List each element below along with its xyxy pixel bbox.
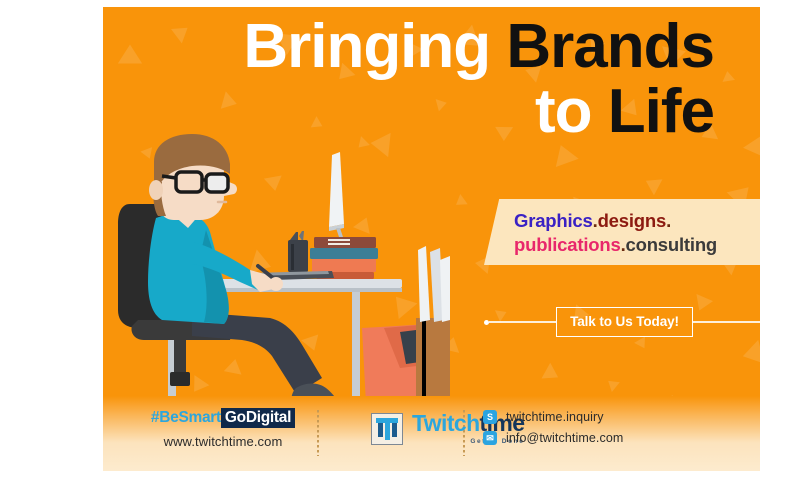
pen-cup bbox=[288, 231, 308, 272]
talk-to-us-today-button[interactable]: Talk to Us Today! bbox=[556, 307, 693, 337]
skype-handle: twitchtime.inquiry bbox=[506, 410, 604, 424]
service-designs: designs bbox=[598, 210, 667, 231]
head bbox=[149, 134, 237, 220]
logo-bar-left bbox=[378, 423, 383, 437]
services-text: Graphics.designs. publications.consultin… bbox=[514, 209, 717, 256]
skype-glyph: S bbox=[483, 410, 497, 424]
legs bbox=[192, 312, 342, 408]
hashtag-be-smart: #BeSmart bbox=[151, 409, 221, 426]
footer-separator-1 bbox=[317, 410, 319, 456]
email-glyph: ✉ bbox=[483, 431, 497, 445]
headline-word-life: Life bbox=[608, 77, 714, 146]
hashtag-block: #BeSmartGoDigital www.twitchtime.com bbox=[133, 409, 313, 449]
cta-row: Talk to Us Today! bbox=[484, 305, 760, 339]
logo-bar-center bbox=[385, 423, 390, 440]
email-address: info@twitchtime.com bbox=[506, 431, 623, 445]
services-line-2: publications.consulting bbox=[514, 233, 717, 257]
services-line-1: Graphics.designs. bbox=[514, 209, 717, 233]
man-working-at-desk-illustration bbox=[103, 132, 450, 412]
monitor-icon bbox=[329, 152, 346, 246]
headline-word-bringing: Bringing bbox=[243, 12, 490, 81]
headline-line-2: to Life bbox=[103, 82, 714, 143]
contact-block: S twitchtime.inquiry ✉ info@twitchtime.c… bbox=[483, 410, 623, 452]
contact-row-skype[interactable]: S twitchtime.inquiry bbox=[483, 410, 623, 424]
headline: Bringing Brands to Life bbox=[103, 17, 760, 143]
headline-word-brands: Brands bbox=[506, 12, 714, 81]
service-consulting: consulting bbox=[626, 234, 718, 255]
tt-monogram-icon bbox=[371, 413, 403, 445]
service-graphics: Graphics bbox=[514, 210, 593, 231]
skype-icon: S bbox=[483, 410, 497, 424]
contact-row-email[interactable]: ✉ info@twitchtime.com bbox=[483, 431, 623, 445]
service-dot-2: . bbox=[666, 210, 671, 231]
promotional-banner: Bringing Brands to Life bbox=[103, 7, 760, 471]
service-publications: publications bbox=[514, 234, 621, 255]
campaign-hashtag: #BeSmartGoDigital bbox=[133, 409, 313, 427]
headline-word-to: to bbox=[535, 77, 592, 146]
logo-name-twitch: Twitch bbox=[412, 410, 480, 436]
headline-line-1: Bringing Brands bbox=[103, 17, 714, 78]
hashtag-go-digital: GoDigital bbox=[221, 408, 295, 428]
email-icon: ✉ bbox=[483, 431, 497, 445]
logo-bar-right bbox=[392, 423, 397, 437]
cta-rule-right bbox=[693, 321, 760, 323]
website-url[interactable]: www.twitchtime.com bbox=[133, 434, 313, 449]
services-panel: Graphics.designs. publications.consultin… bbox=[484, 199, 760, 265]
footer-bar: #BeSmartGoDigital www.twitchtime.com Twi… bbox=[103, 396, 760, 471]
cta-rule-left bbox=[489, 321, 556, 323]
